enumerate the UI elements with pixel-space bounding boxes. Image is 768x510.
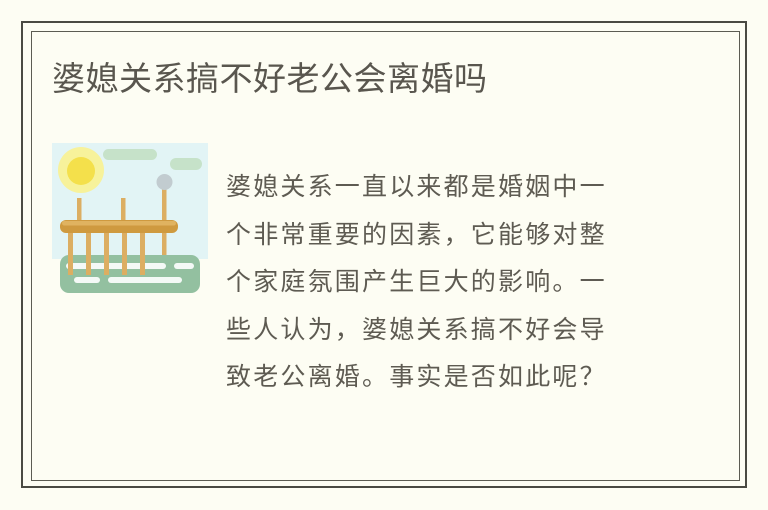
cloud-left-icon <box>103 149 157 160</box>
sun-core-icon <box>67 157 95 185</box>
wave-line <box>66 263 166 269</box>
body-line: 婆媳关系一直以来都是婚姻中一 <box>226 164 666 212</box>
article-card: 婆媳关系搞不好老公会离婚吗 <box>31 31 740 481</box>
page-title: 婆媳关系搞不好老公会离婚吗 <box>52 58 488 100</box>
pier-railing-post <box>77 198 82 223</box>
body-line: 个非常重要的因素，它能够对整 <box>226 212 666 260</box>
body-line: 些人认为，婆媳关系搞不好会导 <box>226 307 666 355</box>
pier-illustration-svg <box>52 143 208 296</box>
article-body: 婆媳关系一直以来都是婚姻中一 个非常重要的因素，它能够对整 个家庭氛围产生巨大的… <box>226 164 666 402</box>
body-line: 致老公离婚。事实是否如此呢？ <box>226 354 666 402</box>
wave-line <box>74 277 100 283</box>
water-shape <box>60 255 200 293</box>
body-line: 个家庭氛围产生巨大的影响。一 <box>226 259 666 307</box>
pier-illustration <box>52 143 208 296</box>
lamp-head-icon <box>157 174 173 190</box>
wave-line <box>174 263 194 269</box>
cloud-right-icon <box>170 158 202 170</box>
wave-line <box>108 277 182 283</box>
pier-deck-highlight <box>62 221 176 226</box>
page-root: 婆媳关系搞不好老公会离婚吗 <box>0 0 768 510</box>
pier-railing-post <box>121 198 126 223</box>
